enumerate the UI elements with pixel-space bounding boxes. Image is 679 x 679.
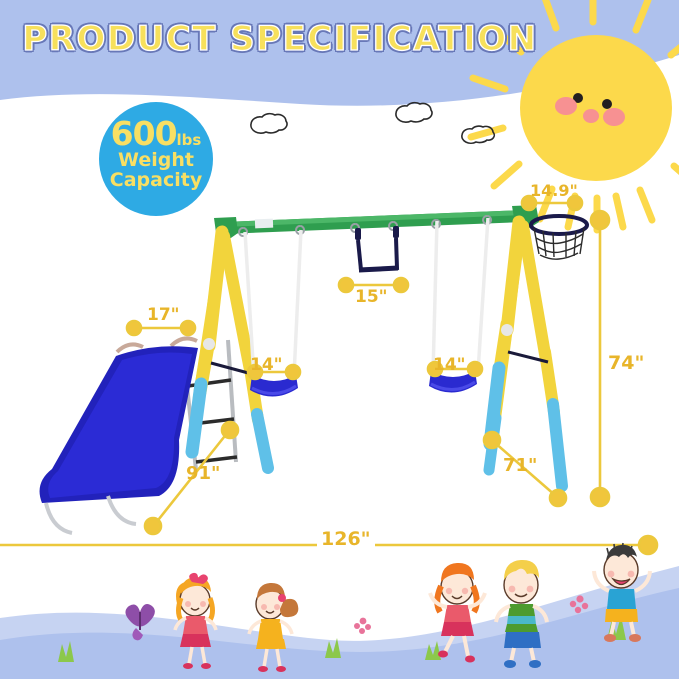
badge-line-1: 600lbs	[99, 117, 213, 150]
page-title: PRODUCT SPECIFICATION	[0, 19, 560, 59]
dimension-label-leg-spread-depth: 71"	[503, 455, 537, 476]
weight-capacity-badge: 600lbs Weight Capacity	[99, 102, 213, 216]
dimension-label-slide-side-depth: 91"	[186, 463, 220, 484]
child-figure	[175, 573, 216, 669]
badge-line-3: Capacity	[99, 171, 213, 191]
flower-icon	[570, 595, 588, 613]
dimension-label-frame-height: 74"	[608, 352, 644, 374]
butterfly-icon	[125, 604, 154, 640]
dimension-label-overall-width: 126"	[317, 528, 375, 550]
flower-icon	[354, 618, 371, 634]
dimension-label-swing-seat-left-width: 14"	[250, 355, 283, 375]
badge-number: 600	[111, 114, 177, 153]
badge-line-2: Weight	[99, 151, 213, 171]
grass-tuft	[58, 641, 74, 662]
grass-tuft	[425, 641, 441, 660]
product-specification-poster: PRODUCT SPECIFICATION 600lbs Weight Capa…	[0, 0, 679, 679]
dimension-label-slide-width: 17"	[147, 305, 180, 325]
child-figure	[496, 560, 547, 668]
dimension-label-swing-seat-right-width: 14"	[433, 355, 466, 375]
child-figure	[249, 583, 298, 672]
badge-unit: lbs	[177, 131, 202, 149]
children-illustration	[0, 0, 679, 679]
dimension-label-basketball-hoop-diameter: 14.9"	[530, 181, 578, 200]
dimension-label-trapeze-bar-width: 15"	[355, 287, 388, 307]
grass-tuft	[325, 638, 341, 658]
